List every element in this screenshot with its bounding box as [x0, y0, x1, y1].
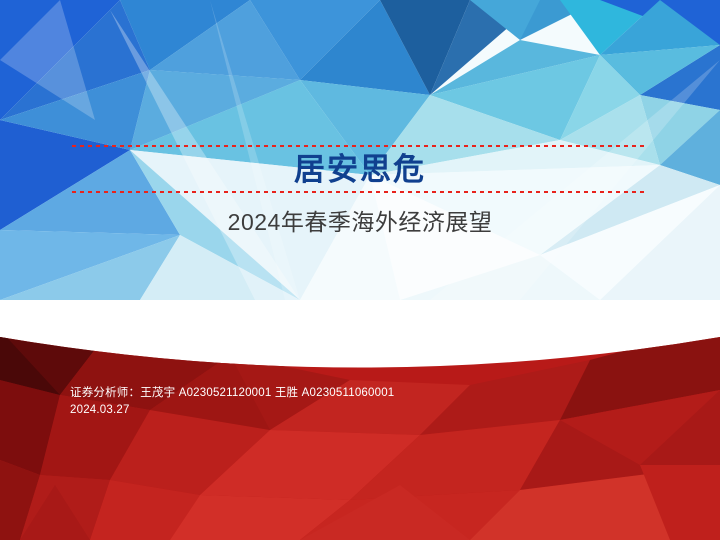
publish-date: 2024.03.27: [70, 402, 630, 419]
page-subtitle: 2024年春季海外经济展望: [0, 207, 720, 237]
analyst-credits: 证券分析师：王茂宇 A0230521120001 王胜 A02305110600…: [70, 385, 630, 419]
divider-rule-bottom: [72, 191, 646, 193]
divider-rule-top: [72, 145, 646, 147]
analyst-line: 证券分析师：王茂宇 A0230521120001 王胜 A02305110600…: [70, 385, 630, 402]
header-polygon-artwork: [0, 0, 720, 300]
footer-polygon-artwork: [0, 300, 720, 540]
page-title: 居安思危: [0, 152, 720, 188]
presentation-slide: 居安思危 2024年春季海外经济展望 证券分析师：王茂宇 A0230521120…: [0, 0, 720, 540]
